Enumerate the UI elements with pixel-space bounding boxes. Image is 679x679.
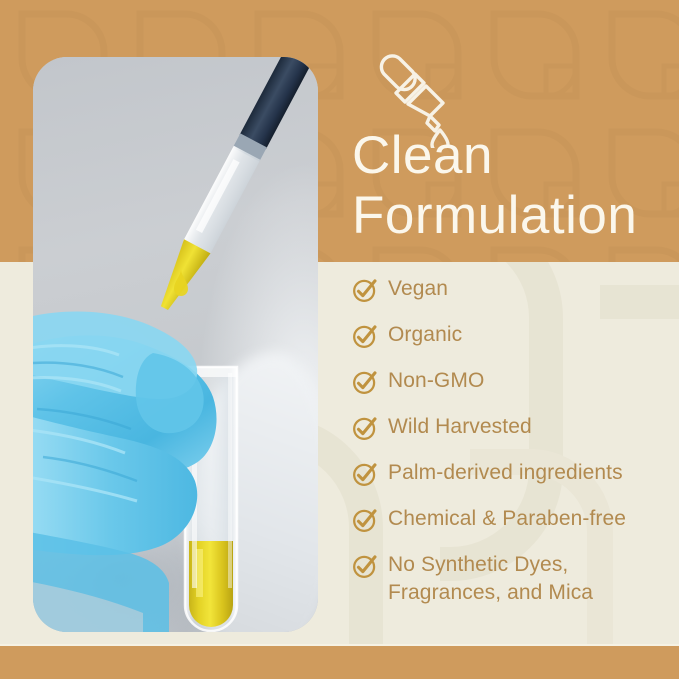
list-item: Chemical & Paraben-free [352,505,672,551]
list-item-label: Vegan [388,275,448,303]
clean-formulation-infographic: Clean Formulation Vegan Organic Non-GMO [0,0,679,679]
list-item-label: Wild Harvested [388,413,532,441]
list-item-label: Chemical & Paraben-free [388,505,626,533]
list-item-label: No Synthetic Dyes, Fragrances, and Mica [388,551,593,607]
product-photo [33,57,318,632]
list-item: Non-GMO [352,367,672,413]
check-circle-icon [352,553,378,579]
benefits-checklist: Vegan Organic Non-GMO Wild Harvested [352,275,672,607]
bottom-tan-bar [0,646,679,679]
check-circle-icon [352,507,378,533]
pipette-graphic [151,57,318,315]
check-circle-icon [352,369,378,395]
check-circle-icon [352,277,378,303]
list-item-label: Palm-derived ingredients [388,459,623,487]
list-item: No Synthetic Dyes, Fragrances, and Mica [352,551,672,607]
list-item: Organic [352,321,672,367]
list-item: Vegan [352,275,672,321]
check-circle-icon [352,415,378,441]
list-item: Palm-derived ingredients [352,459,672,505]
list-item-label: Organic [388,321,462,349]
check-circle-icon [352,461,378,487]
check-circle-icon [352,323,378,349]
list-item: Wild Harvested [352,413,672,459]
list-item-label: Non-GMO [388,367,484,395]
page-title: Clean Formulation [352,126,672,246]
